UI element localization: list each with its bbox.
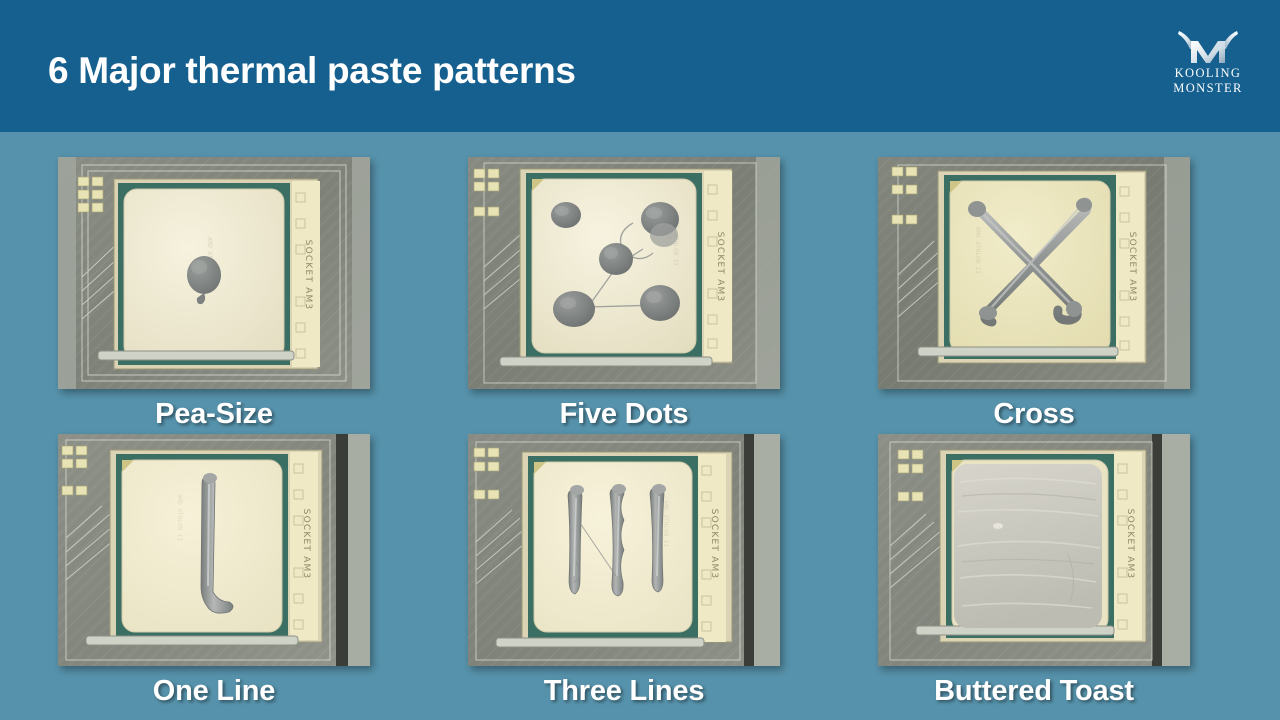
svg-text:AMD ATHLON II: AMD ATHLON II: [974, 227, 981, 274]
gallery-caption-buttered-toast: Buttered Toast: [878, 675, 1190, 708]
gallery-caption-cross: Cross: [878, 398, 1190, 431]
gallery-item-buttered-toast[interactable]: SOCKET AM3: [878, 434, 1190, 708]
gallery-item-cross[interactable]: AMD ATHLON II SOCKET AM3: [878, 157, 1190, 431]
gallery-item-one-line[interactable]: AMD ATHLON II SOCKET AM3 One Line: [58, 434, 370, 708]
gallery-caption-pea-size: Pea-Size: [58, 398, 370, 431]
cpu-photo-five-dots: AMD ATHLON II SOCKET AM3: [468, 157, 780, 389]
paste-pattern-buttered-toast: [954, 464, 1102, 628]
gallery-caption-one-line: One Line: [58, 675, 370, 708]
horned-m-icon: [1177, 28, 1239, 66]
header-bar: 6 Major thermal paste patterns KOOLING M…: [0, 0, 1280, 132]
kooling-monster-logo: KOOLING MONSTER: [1156, 28, 1260, 110]
cpu-photo-three-lines: AMD ATHLON II SOCKET AM3: [468, 434, 780, 666]
cpu-photo-cross: AMD ATHLON II SOCKET AM3: [878, 157, 1190, 389]
page-title: 6 Major thermal paste patterns: [48, 50, 576, 92]
svg-text:AMD ATHLON II: AMD ATHLON II: [176, 494, 183, 541]
logo-text-line-1: KOOLING: [1175, 66, 1242, 81]
cpu-photo-one-line: AMD ATHLON II SOCKET AM3: [58, 434, 370, 666]
gallery-item-five-dots[interactable]: AMD ATHLON II SOCKET AM3: [468, 157, 780, 431]
gallery-item-three-lines[interactable]: AMD ATHLON II SOCKET AM3: [468, 434, 780, 708]
cpu-photo-pea-size: AMD ATHLON II SOCKET AM3: [58, 157, 370, 389]
cpu-photo-buttered-toast: SOCKET AM3: [878, 434, 1190, 666]
logo-text-line-2: MONSTER: [1173, 81, 1243, 96]
pattern-gallery: AMD ATHLON II SOCKET AM3 Pea-Size: [0, 132, 1280, 720]
gallery-caption-five-dots: Five Dots: [468, 398, 780, 431]
gallery-item-pea-size[interactable]: AMD ATHLON II SOCKET AM3 Pea-Size: [58, 157, 370, 431]
gallery-caption-three-lines: Three Lines: [468, 675, 780, 708]
